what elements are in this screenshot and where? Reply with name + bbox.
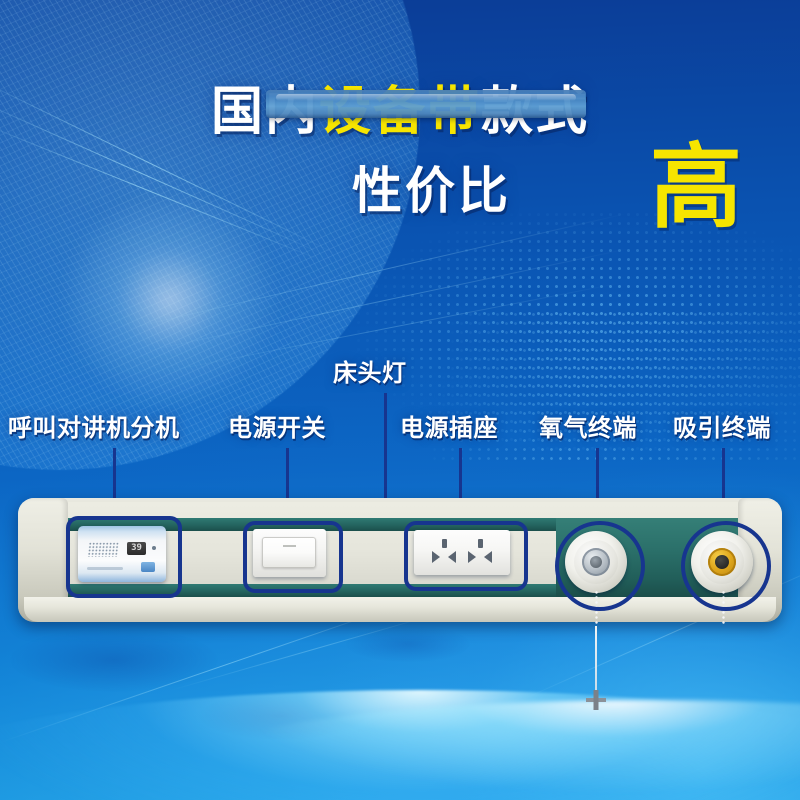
highlight-circle-suction	[681, 521, 771, 611]
highlight-box-power-socket	[404, 521, 528, 591]
callout-label-oxygen-terminal: 氧气终端	[539, 417, 637, 441]
headline-line-2: 性价比	[352, 166, 511, 216]
oxygen-cord-weight[interactable]	[586, 690, 606, 710]
promo-banner: 国内设备带款式 性价比 高 呼叫对讲机分机 电源开关 床头灯 电源插座 氧气终端…	[0, 0, 800, 800]
highlight-box-intercom	[66, 516, 182, 598]
panel-bottom-lip	[24, 597, 776, 622]
headline-big-word: 高	[650, 142, 742, 234]
callout-label-bed-lamp: 床头灯	[333, 362, 407, 386]
callout-label-power-switch: 电源开关	[228, 417, 326, 441]
callout-label-power-socket: 电源插座	[400, 417, 498, 441]
callout-label-intercom: 呼叫对讲机分机	[8, 417, 180, 441]
oxygen-pull-cord[interactable]	[595, 626, 597, 698]
highlight-circle-oxygen	[555, 521, 645, 611]
highlight-box-power-switch	[243, 521, 343, 593]
callout-label-suction-terminal: 吸引终端	[673, 417, 771, 441]
bed-lamp-gloss	[276, 94, 576, 101]
